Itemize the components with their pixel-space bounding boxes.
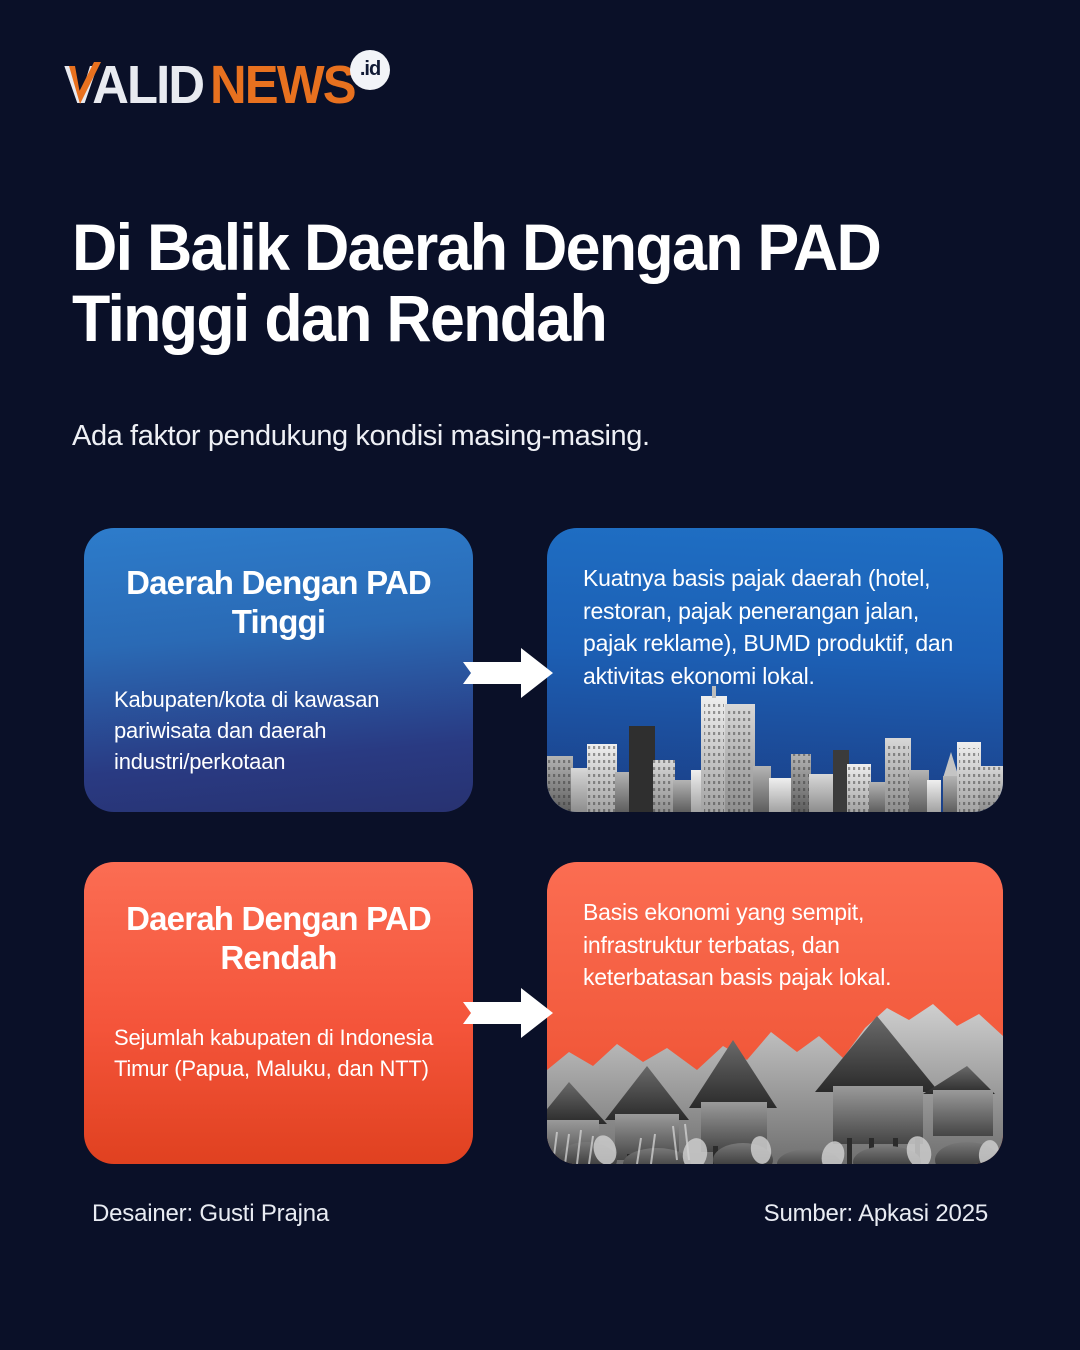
logo-wordmark: VALID NEWS	[64, 58, 364, 112]
traditional-village-photo	[547, 974, 1003, 1164]
card-pad-tinggi-label[interactable]: Daerah Dengan PAD Tinggi Kabupaten/kota …	[84, 528, 473, 812]
footer-source: Sumber: Apkasi 2025	[764, 1200, 988, 1228]
validnews-logo[interactable]: VALID NEWS .id	[64, 58, 390, 112]
card-heading: Daerah Dengan PAD Rendah	[84, 900, 473, 978]
infographic-canvas: VALID NEWS .id Di Balik Daerah Dengan PA…	[0, 0, 1080, 1350]
card-text: Kuatnya basis pajak daerah (hotel, resto…	[547, 528, 1003, 693]
card-body: Sejumlah kabupaten di Indonesia Timur (P…	[84, 1022, 473, 1084]
page-title: Di Balik Daerah Dengan PAD Tinggi dan Re…	[72, 212, 946, 355]
card-pad-rendah-detail[interactable]: Basis ekonomi yang sempit, infrastruktur…	[547, 862, 1003, 1164]
logo-id-text: .id	[360, 59, 380, 79]
card-body: Kabupaten/kota di kawasan pariwisata dan…	[84, 684, 473, 778]
logo-id-badge: .id	[350, 50, 390, 90]
arrow-right-icon	[463, 988, 553, 1038]
card-heading: Daerah Dengan PAD Tinggi	[84, 564, 473, 642]
card-text: Basis ekonomi yang sempit, infrastruktur…	[547, 862, 1003, 994]
card-pad-tinggi-detail[interactable]: Kuatnya basis pajak daerah (hotel, resto…	[547, 528, 1003, 812]
logo-text-valid: VALID	[64, 58, 203, 112]
city-skyline-photo	[547, 682, 1003, 812]
arrow-right-icon	[463, 648, 553, 698]
page-subtitle: Ada faktor pendukung kondisi masing-masi…	[72, 420, 992, 453]
logo-text-news: NEWS	[210, 58, 355, 112]
card-pad-rendah-label[interactable]: Daerah Dengan PAD Rendah Sejumlah kabupa…	[84, 862, 473, 1164]
footer-designer: Desainer: Gusti Prajna	[92, 1200, 329, 1228]
